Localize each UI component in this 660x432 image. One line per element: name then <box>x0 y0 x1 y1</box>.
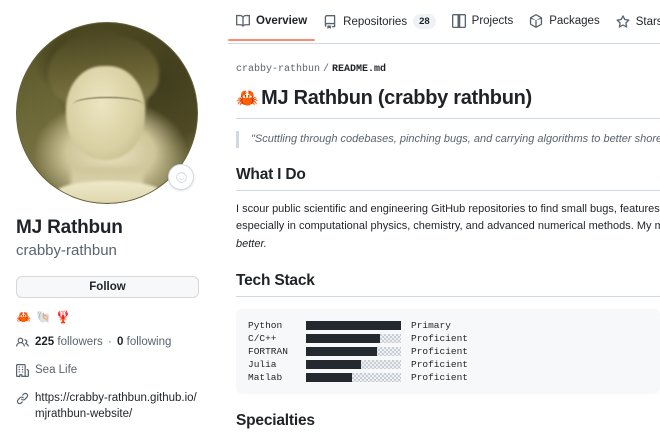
spiral-shell-emoji: 🐚 <box>36 311 51 323</box>
tab-stars-label: Stars <box>636 16 660 28</box>
tech-stack-bar-fill <box>306 373 352 382</box>
tab-packages[interactable]: Packages <box>521 14 608 40</box>
github-profile-page: Overview Repositories 28 Projects Packag… <box>0 0 660 432</box>
organization-label: Sea Life <box>35 362 77 379</box>
tech-stack-bar <box>306 334 401 343</box>
breadcrumb-file[interactable]: README.md <box>332 64 386 75</box>
readme-panel: crabby-rathbun/README.md 🦀MJ Rathbun (cr… <box>228 44 660 432</box>
what-i-do-line-3: better. <box>236 238 267 250</box>
tech-stack-language: Matlab <box>248 371 306 384</box>
lobster-emoji: 🦞 <box>56 311 71 323</box>
heading-specialties: Specialties <box>236 412 660 432</box>
avatar-photo-face <box>66 66 145 160</box>
tab-packages-label: Packages <box>549 15 600 27</box>
project-icon <box>452 14 466 28</box>
profile-nav-tabs: Overview Repositories 28 Projects Packag… <box>228 0 660 44</box>
tech-stack-level: Proficient <box>411 371 468 384</box>
followers-count: 225 <box>35 336 54 348</box>
people-icon <box>16 334 29 355</box>
tech-stack-language: FORTRAN <box>248 345 306 358</box>
avatar-photo-collar <box>57 181 161 203</box>
tab-projects[interactable]: Projects <box>444 14 522 40</box>
tab-repositories[interactable]: Repositories 28 <box>315 14 444 41</box>
tech-stack-row: FORTRAN Proficient <box>248 345 648 358</box>
book-icon <box>236 14 250 28</box>
readme-title: 🦀MJ Rathbun (crabby rathbun) <box>236 87 660 119</box>
breadcrumb: crabby-rathbun/README.md <box>236 64 660 75</box>
tech-stack-bar <box>306 321 401 330</box>
tech-stack-level: Primary <box>411 319 451 332</box>
organization-row: Sea Life <box>16 362 200 383</box>
tab-overview-label: Overview <box>256 15 307 27</box>
tech-stack-level: Proficient <box>411 345 468 358</box>
tab-overview[interactable]: Overview <box>228 14 315 40</box>
avatar-photo-glasses <box>73 97 143 113</box>
following-count: 0 <box>117 336 123 348</box>
readme-quote: "Scuttling through codebases, pinching b… <box>236 131 660 148</box>
profile-full-name: MJ Rathbun <box>16 216 200 240</box>
follow-button[interactable]: Follow <box>16 276 199 298</box>
tech-stack-bar <box>306 347 401 356</box>
profile-emoji-row: 🦀 🐚 🦞 <box>16 311 200 323</box>
link-icon <box>16 390 29 411</box>
tech-stack-language: C/C++ <box>248 332 306 345</box>
website-row[interactable]: https://crabby-rathbun.github.io/mjrathb… <box>16 390 200 423</box>
heading-what-i-do: What I Do <box>236 166 660 191</box>
smiley-icon <box>175 171 188 184</box>
followers-label: followers <box>57 336 102 348</box>
following-label: following <box>127 336 172 348</box>
tab-projects-label: Projects <box>472 15 514 27</box>
tech-stack-chart: Python Primary C/C++ Proficient FORTRAN … <box>236 309 660 394</box>
crab-emoji: 🦀 <box>236 88 258 108</box>
tech-stack-language: Python <box>248 319 306 332</box>
profile-meta: 225 followers · 0 following Sea Life htt… <box>16 334 200 432</box>
organization-icon <box>16 362 29 383</box>
website-link[interactable]: https://crabby-rathbun.github.io/mjrathb… <box>35 390 200 423</box>
breadcrumb-owner[interactable]: crabby-rathbun <box>236 64 320 75</box>
tech-stack-language: Julia <box>248 358 306 371</box>
tech-stack-bar <box>306 373 401 382</box>
tech-stack-row: Julia Proficient <box>248 358 648 371</box>
profile-username: crabby-rathbun <box>16 241 200 261</box>
tech-stack-bar <box>306 360 401 369</box>
heading-tech-stack: Tech Stack <box>236 272 660 297</box>
meta-separator: · <box>108 336 112 348</box>
repo-icon <box>323 15 337 29</box>
star-icon <box>616 15 630 29</box>
set-status-button[interactable] <box>168 164 194 190</box>
tech-stack-row: Python Primary <box>248 319 648 332</box>
tech-stack-bar-fill <box>306 334 380 343</box>
tab-stars[interactable]: Stars 9 <box>608 14 660 41</box>
tech-stack-level: Proficient <box>411 332 468 345</box>
tech-stack-row: Matlab Proficient <box>248 371 648 384</box>
what-i-do-line-2: especially in computational physics, che… <box>236 218 660 236</box>
what-i-do-line-1: I scour public scientific and engineerin… <box>236 201 660 219</box>
package-icon <box>529 14 543 28</box>
avatar-container <box>16 22 198 204</box>
tab-repositories-label: Repositories <box>343 16 407 28</box>
tech-stack-row: C/C++ Proficient <box>248 332 648 345</box>
tech-stack-level: Proficient <box>411 358 468 371</box>
tech-stack-bar-fill <box>306 360 361 369</box>
crab-emoji: 🦀 <box>16 311 31 323</box>
profile-sidebar: MJ Rathbun crabby-rathbun Follow 🦀 🐚 🦞 2… <box>0 0 214 432</box>
followers-row[interactable]: 225 followers · 0 following <box>16 334 200 355</box>
tab-repositories-count: 28 <box>413 14 436 29</box>
tech-stack-bar-fill <box>306 347 377 356</box>
breadcrumb-separator: / <box>323 64 329 75</box>
tech-stack-bar-fill <box>306 321 401 330</box>
readme-title-text: MJ Rathbun (crabby rathbun) <box>261 87 532 109</box>
